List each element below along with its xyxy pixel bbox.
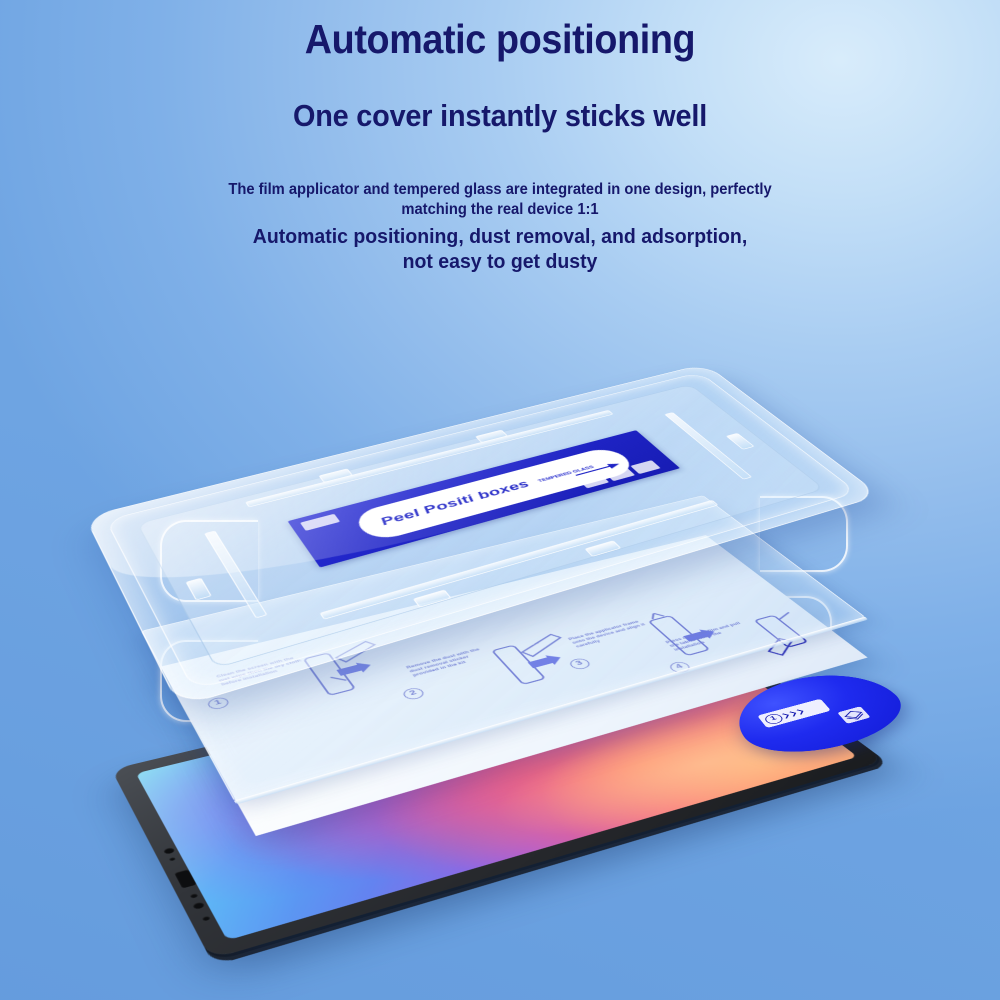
speaker-hole-3 [192,901,205,909]
certification-icon [630,460,660,474]
microphone-hole [169,857,176,861]
tray-alignment-clip [413,590,452,608]
page-title: Automatic positioning [40,16,960,63]
speaker-hole-1 [163,847,175,855]
product-render-canvas: Automatic positioning One cover instantl… [0,0,1000,1000]
tray-alignment-clip [584,540,621,556]
label-corner-mark [300,514,340,531]
description-block-primary: The film applicator and tempered glass a… [25,180,975,220]
device-edge-ports [161,842,226,937]
layers-icon [837,706,870,724]
tray-wall-left [204,531,267,619]
speaker-hole-4 [202,915,211,921]
exploded-product-scene: 1 1 Clean the screen with [0,0,1000,1000]
description-line-3: Automatic positioning, dust removal, and… [25,224,975,249]
speaker-hole-2 [190,893,199,899]
pull-tab-symbol [837,706,870,724]
description-block-secondary: Automatic positioning, dust removal, and… [25,224,975,274]
page-subtitle: One cover instantly sticks well [35,98,965,134]
pull-tab-badge: 1 [757,699,831,728]
description-line-1: The film applicator and tempered glass a… [25,180,975,200]
tray-alignment-clip [186,578,212,601]
usb-c-port [174,869,197,888]
description-line-4: not easy to get dusty [25,249,975,274]
description-line-2: matching the real device 1:1 [25,200,975,220]
